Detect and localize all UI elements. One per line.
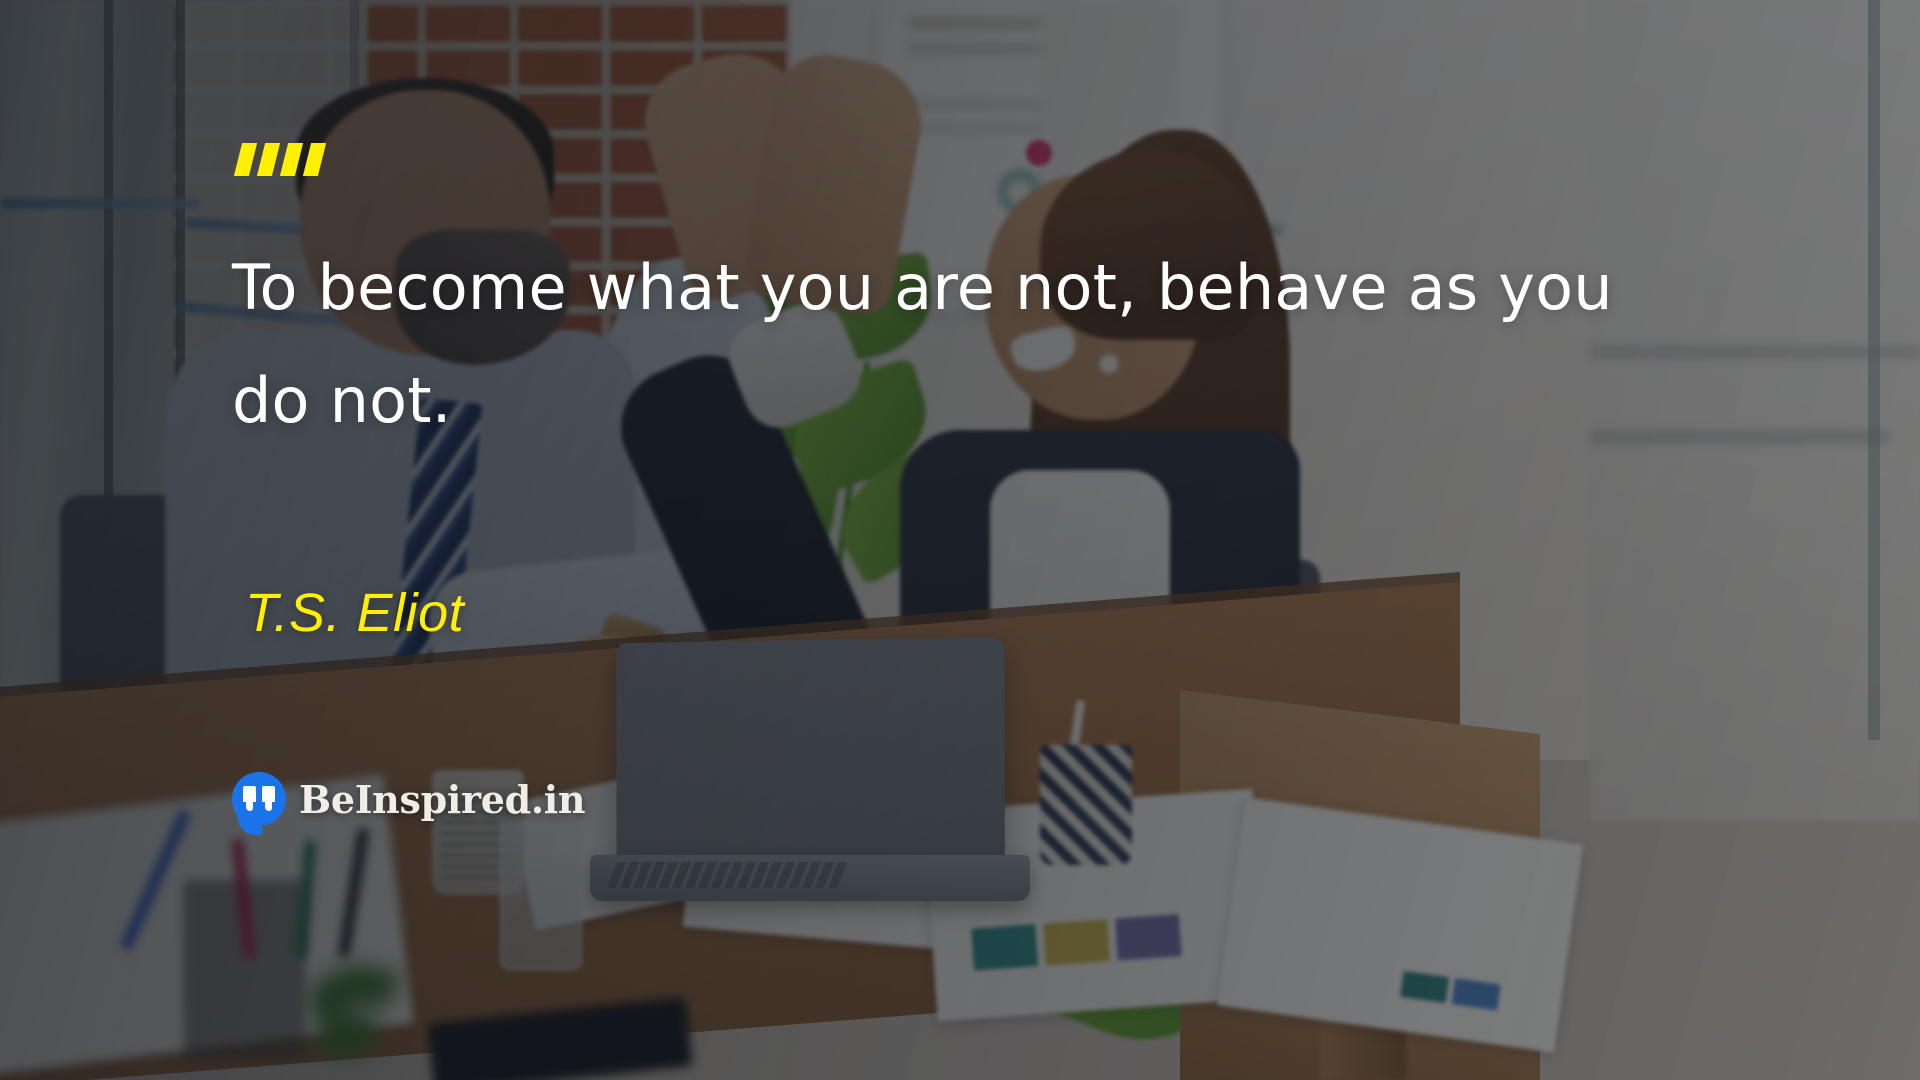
quote-bubble-icon	[232, 772, 286, 826]
brand-logo[interactable]: BeInspired.in	[232, 772, 585, 826]
card-content: To become what you are not, behave as yo…	[0, 0, 1920, 1080]
brand-name: BeInspired.in	[299, 777, 585, 822]
quote-bars-icon	[238, 143, 322, 176]
quote-text: To become what you are not, behave as yo…	[232, 232, 1662, 458]
quote-author: T.S. Eliot	[245, 582, 464, 644]
quote-card: To become what you are not, behave as yo…	[0, 0, 1920, 1080]
